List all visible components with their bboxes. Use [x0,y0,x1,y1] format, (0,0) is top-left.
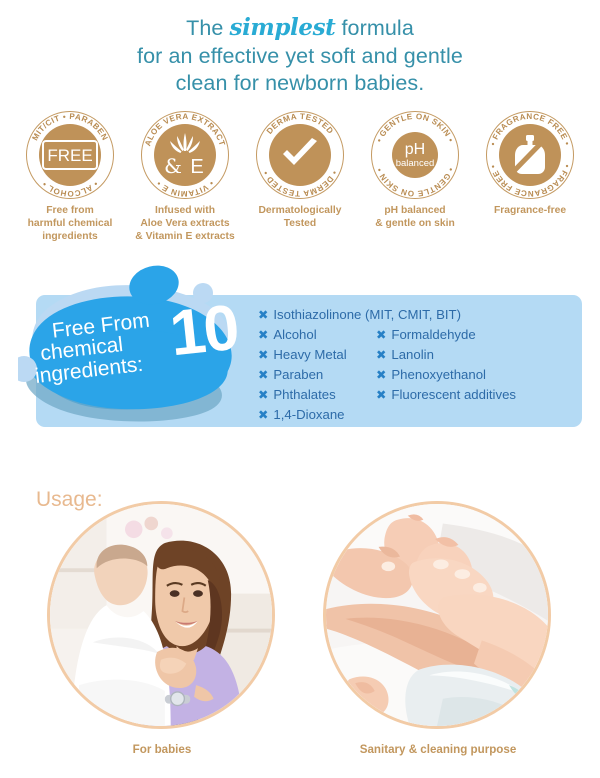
headline-line-3: clean for newborn babies. [0,70,600,97]
svg-text:• FRAGRANCE FREE •: • FRAGRANCE FREE • [488,112,571,147]
headline-pre: The [186,16,229,40]
list-item: ✖ Phenoxyethanol [376,365,486,384]
ingredient-label: Formaldehyde [391,325,475,344]
badge-aloe-vera-vitamin-e: ALOE VERA EXTRACT • VITAMIN E • & E I [131,111,239,243]
x-mark-icon: ✖ [376,366,386,384]
ingredient-label: 1,4-Dioxane [273,405,344,424]
headline: The simplest formula for an effective ye… [0,0,600,97]
ingredient-row: ✖ Heavy Metal ✖ Lanolin [258,345,516,364]
ingredient-row: ✖ Alcohol ✖ Formaldehyde [258,325,516,344]
x-mark-icon: ✖ [376,326,386,344]
svg-text:ALOE VERA EXTRACT: ALOE VERA EXTRACT [143,112,227,147]
svg-text:DERMA TESTED: DERMA TESTED [265,112,335,136]
photo-circle [47,501,275,729]
ingredient-label: Heavy Metal [273,345,346,364]
ingredient-row: ✖ Paraben ✖ Phenoxyethanol [258,365,516,384]
x-mark-icon: ✖ [258,306,268,324]
list-item: ✖ Heavy Metal [258,345,376,364]
list-item: ✖ Fluorescent additives [376,385,516,404]
ingredient-label: Fluorescent additives [391,385,516,404]
svg-text:• GENTLE ON SKIN •: • GENTLE ON SKIN • [375,112,456,144]
ingredient-row: ✖ 1,4-Dioxane [258,405,516,424]
svg-text:MIT/CIT • PARABEN: MIT/CIT • PARABEN [30,112,109,142]
badge-caption: DermatologicallyTested [259,205,342,231]
headline-line-2: for an effective yet soft and gentle [0,43,600,70]
photo-circle [323,501,551,729]
usage-photos: For babies [0,501,600,756]
headline-script-word: simplest [230,14,336,41]
badge-seal: MIT/CIT • PARABEN • ALCOHOL • FREE [26,111,114,199]
blue-blob-graphic [18,265,278,437]
svg-text:• ALCOHOL •: • ALCOHOL • [40,180,99,199]
list-item: ✖ Isothiazolinone (MIT, CMIT, BIT) [258,305,461,324]
seal-ring-text: ALOE VERA EXTRACT • VITAMIN E • [141,111,229,199]
ingredient-label: Phenoxyethanol [391,365,486,384]
seal-ring-text: • GENTLE ON SKIN • • GENTLE ON SKIN • [371,111,459,199]
usage-photo-mother-and-baby: For babies [47,501,277,756]
ingredient-label: Phthalates [273,385,335,404]
list-item: ✖ 1,4-Dioxane [258,405,376,424]
ingredient-label: Lanolin [391,345,434,364]
svg-text:• FRAGRANCE FREE •: • FRAGRANCE FREE • [488,163,571,198]
badge-caption: pH balanced& gentle on skin [375,205,455,231]
badge-free-from-harmful: MIT/CIT • PARABEN • ALCOHOL • FREE Free … [16,111,124,243]
x-mark-icon: ✖ [376,346,386,364]
free-from-section: Free From chemical ingredients: 10 ✖ Iso… [18,265,582,437]
headline-post: formula [335,16,413,40]
list-item: ✖ Formaldehyde [376,325,476,344]
list-item: ✖ Paraben [258,365,376,384]
ingredient-label: Paraben [273,365,323,384]
badge-caption: Infused withAloe Vera extracts& Vitamin … [135,205,234,243]
badge-caption: Free fromharmful chemicalingredients [28,205,113,243]
ingredient-label: Alcohol [273,325,316,344]
list-item: ✖ Alcohol [258,325,376,344]
photo-mother-and-baby [50,504,272,726]
ingredient-label: Isothiazolinone (MIT, CMIT, BIT) [273,305,461,324]
badge-seal: DERMA TESTED • DERMA TESTED • [256,111,344,199]
ingredient-row: ✖ Isothiazolinone (MIT, CMIT, BIT) [258,305,516,324]
list-item: ✖ Phthalates [258,385,376,404]
badge-derma-tested: DERMA TESTED • DERMA TESTED • Dermatolog… [246,111,354,243]
x-mark-icon: ✖ [258,386,268,404]
badge-fragrance-free: • FRAGRANCE FREE • • FRAGRANCE FREE • Fr… [476,111,584,243]
photo-caption: Sanitary & cleaning purpose [323,743,553,756]
excluded-ingredients-list: ✖ Isothiazolinone (MIT, CMIT, BIT) ✖ Alc… [258,305,516,425]
x-mark-icon: ✖ [258,326,268,344]
badge-caption: Fragrance-free [494,205,566,218]
x-mark-icon: ✖ [258,406,268,424]
list-item: ✖ Lanolin [376,345,434,364]
seal-ring-text: DERMA TESTED • DERMA TESTED • [256,111,344,199]
badge-ph-balanced: • GENTLE ON SKIN • • GENTLE ON SKIN • pH… [361,111,469,243]
seal-ring-text: MIT/CIT • PARABEN • ALCOHOL • [26,111,114,199]
usage-photo-baby-feet-diaper: Sanitary & cleaning purpose [323,501,553,756]
certification-badges: MIT/CIT • PARABEN • ALCOHOL • FREE Free … [0,97,600,243]
headline-line-1: The simplest formula [0,14,600,43]
badge-seal: • GENTLE ON SKIN • • GENTLE ON SKIN • pH… [371,111,459,199]
x-mark-icon: ✖ [258,346,268,364]
svg-text:• VITAMIN E •: • VITAMIN E • [155,179,216,198]
badge-seal: • FRAGRANCE FREE • • FRAGRANCE FREE • [486,111,574,199]
photo-baby-feet-diaper [326,504,548,726]
svg-text:• GENTLE ON SKIN •: • GENTLE ON SKIN • [375,167,456,199]
ingredient-row: ✖ Phthalates ✖ Fluorescent additives [258,385,516,404]
x-mark-icon: ✖ [258,366,268,384]
x-mark-icon: ✖ [376,386,386,404]
badge-seal: ALOE VERA EXTRACT • VITAMIN E • & E [141,111,229,199]
seal-ring-text: • FRAGRANCE FREE • • FRAGRANCE FREE • [486,111,574,199]
photo-caption: For babies [47,743,277,756]
svg-text:• DERMA TESTED •: • DERMA TESTED • [261,169,339,198]
